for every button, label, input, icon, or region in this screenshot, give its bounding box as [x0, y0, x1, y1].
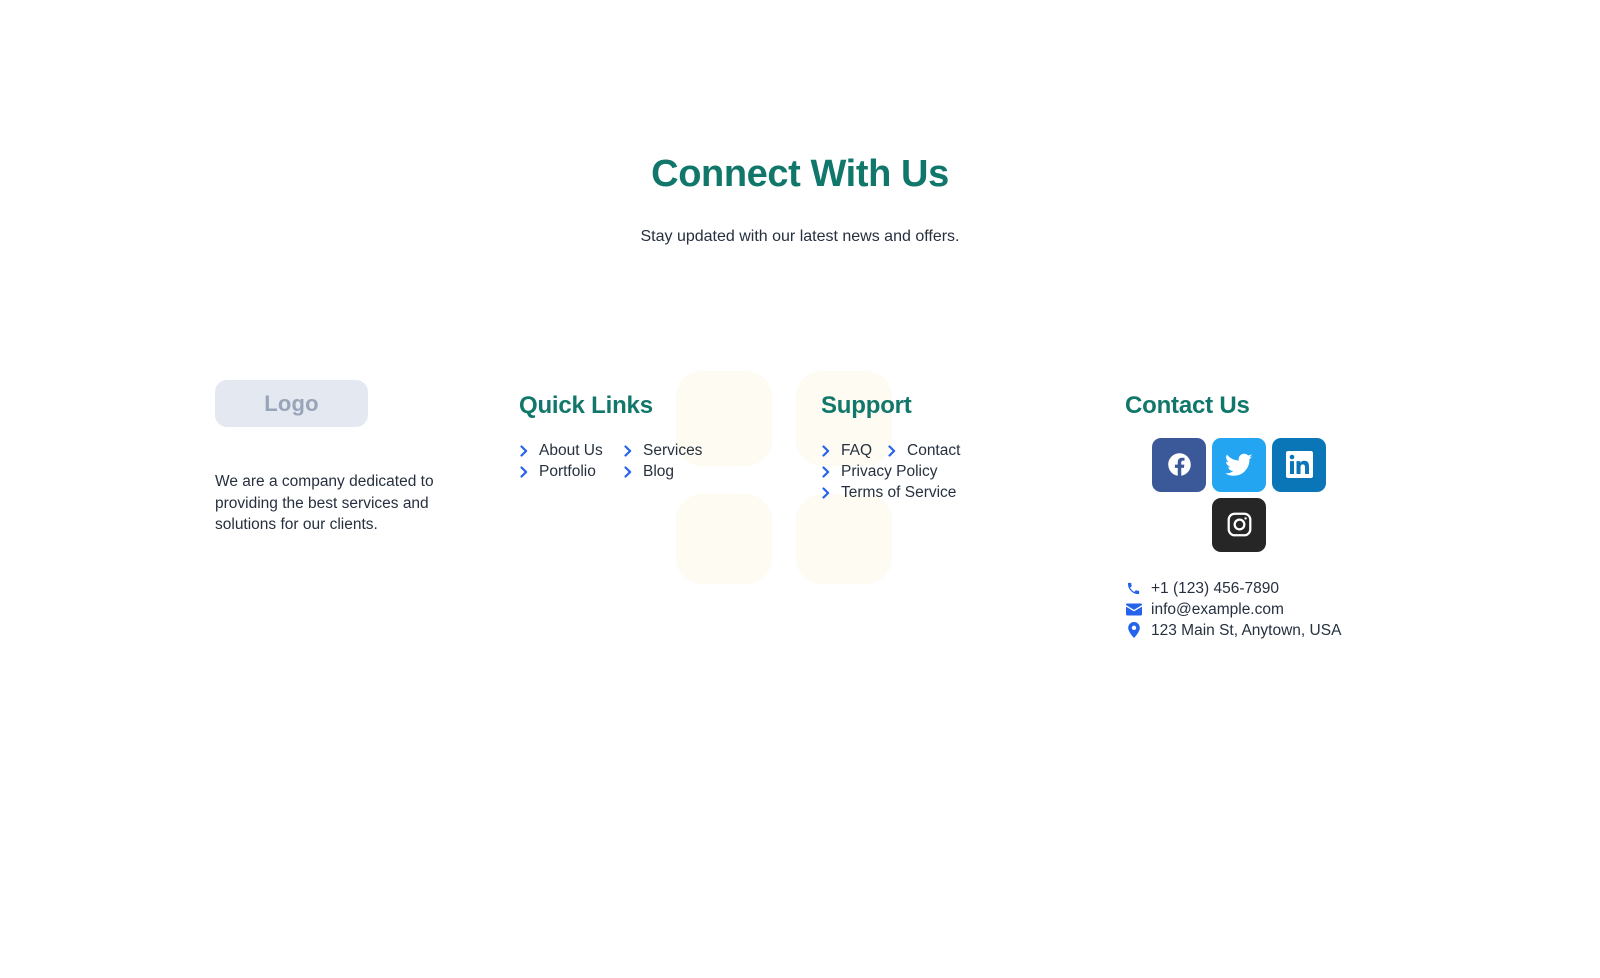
footer-column-support: Support FAQ Contact Privacy Policy [821, 380, 1121, 503]
location-pin-icon [1125, 623, 1142, 638]
social-link-twitter[interactable] [1212, 438, 1266, 492]
quick-link-blog[interactable]: Blog [623, 461, 674, 482]
support-link-label: Privacy Policy [841, 461, 937, 482]
contact-detail-phone[interactable]: +1 (123) 456-7890 [1125, 578, 1385, 599]
logo-placeholder[interactable]: Logo [215, 380, 368, 427]
support-link-faq[interactable]: FAQ [821, 440, 873, 461]
support-link-terms-of-service[interactable]: Terms of Service [821, 482, 983, 503]
support-link-label: Terms of Service [841, 482, 956, 503]
contact-detail-address[interactable]: 123 Main St, Anytown, USA [1125, 620, 1385, 641]
contact-details-list: +1 (123) 456-7890 info@example.com 123 M… [1125, 552, 1385, 641]
contact-detail-email[interactable]: info@example.com [1125, 599, 1385, 620]
footer-column-contact: Contact Us [1125, 380, 1385, 641]
logo-label: Logo [264, 391, 319, 417]
twitter-icon [1225, 451, 1253, 479]
instagram-icon [1226, 511, 1253, 538]
quick-link-label: Services [643, 440, 702, 461]
quick-link-label: Blog [643, 461, 674, 482]
social-link-linkedin[interactable] [1272, 438, 1326, 492]
chevron-right-icon [821, 486, 832, 498]
chevron-right-icon [519, 465, 530, 477]
support-links-list: FAQ Contact Privacy Policy Terms of Serv… [821, 421, 1001, 503]
page-subtitle: Stay updated with our latest news and of… [0, 198, 1600, 248]
footer-column-brand: Logo We are a company dedicated to provi… [215, 380, 515, 536]
chevron-right-icon [519, 444, 530, 456]
linkedin-icon [1286, 451, 1313, 478]
phone-icon [1125, 581, 1142, 596]
facebook-icon [1166, 451, 1193, 478]
quick-link-portfolio[interactable]: Portfolio [519, 461, 605, 482]
page-title: Connect With Us [0, 0, 1600, 198]
contact-detail-text: 123 Main St, Anytown, USA [1151, 620, 1341, 641]
quick-links-title: Quick Links [519, 380, 819, 421]
support-link-contact[interactable]: Contact [887, 440, 960, 461]
contact-detail-text: info@example.com [1151, 599, 1284, 620]
chevron-right-icon [623, 465, 634, 477]
footer-header: Connect With Us Stay updated with our la… [0, 0, 1600, 248]
support-link-privacy-policy[interactable]: Privacy Policy [821, 461, 983, 482]
support-title: Support [821, 380, 1121, 421]
support-link-label: FAQ [841, 440, 872, 461]
quick-link-about-us[interactable]: About Us [519, 440, 605, 461]
chevron-right-icon [821, 444, 832, 456]
brand-description: We are a company dedicated to providing … [215, 427, 447, 536]
social-link-facebook[interactable] [1152, 438, 1206, 492]
quick-links-list: About Us Services Portfolio Blog [519, 421, 729, 482]
footer-column-quick-links: Quick Links About Us Services Portfolio [519, 380, 819, 482]
chevron-right-icon [623, 444, 634, 456]
quick-link-services[interactable]: Services [623, 440, 702, 461]
envelope-icon [1125, 602, 1142, 617]
contact-us-title: Contact Us [1125, 380, 1385, 421]
contact-detail-text: +1 (123) 456-7890 [1151, 578, 1279, 599]
footer-columns: Logo We are a company dedicated to provi… [215, 380, 1385, 641]
quick-link-label: About Us [539, 440, 603, 461]
quick-link-label: Portfolio [539, 461, 596, 482]
chevron-right-icon [821, 465, 832, 477]
social-link-instagram[interactable] [1212, 498, 1266, 552]
chevron-right-icon [887, 444, 898, 456]
social-links [1125, 421, 1356, 552]
support-link-label: Contact [907, 440, 960, 461]
